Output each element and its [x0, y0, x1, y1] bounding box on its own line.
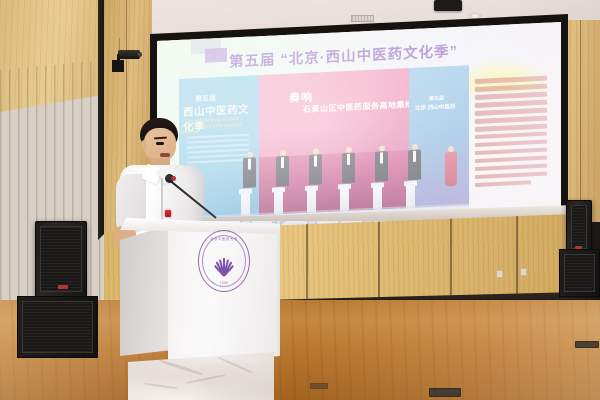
wall-outlet-plate: [520, 268, 527, 276]
left-loudspeaker: [35, 221, 87, 297]
microphone-stem: [167, 178, 216, 219]
podium-side-panel: [120, 224, 172, 356]
person-mouth: [160, 153, 170, 157]
marble-vein: [144, 383, 178, 390]
floor-outlet-box: [575, 341, 599, 348]
conference-hall-scene: 第五届 “北京·西山中医药文化季” 第五届 西山中医药文化季 The 5th B…: [0, 0, 600, 400]
photo-figure: [342, 147, 355, 194]
university-emblem: 北京中医药大学 1956: [198, 230, 250, 292]
ceiling-light: [469, 14, 481, 18]
panel-seam: [450, 218, 452, 306]
camera-cable: [119, 38, 120, 50]
marble-vein: [159, 359, 204, 376]
photo-figure: [276, 150, 289, 197]
photo-figure: [243, 151, 256, 198]
microphone-indicator-light: [171, 176, 176, 181]
person-ear: [141, 140, 147, 149]
photo-center-line2: 石景山区中医药服务高地集结号: [303, 99, 422, 116]
podium: 北京中医药大学 1956: [120, 218, 280, 364]
emblem-top-text: 北京中医药大学: [198, 236, 250, 241]
floor-outlet-box: [429, 388, 461, 397]
slide-body-paragraph: [475, 76, 547, 207]
right-loudspeaker: [566, 200, 592, 254]
wall-camera: [112, 48, 142, 72]
slide-accent-square: [205, 48, 227, 63]
marble-vein: [186, 374, 226, 384]
speaker-brand-logo: [58, 285, 68, 289]
ceiling-vent: [351, 15, 374, 22]
floor-outlet-box: [310, 383, 328, 389]
ceiling-speaker: [434, 0, 462, 11]
photo-figure-host: [445, 146, 457, 189]
photo-figure: [375, 145, 388, 192]
speaker-grille: [40, 226, 82, 292]
emblem-tree-icon: [212, 246, 236, 276]
left-subwoofer: [17, 296, 98, 358]
speaker-grille: [564, 254, 595, 292]
photo-right-line2: 北京·西山中医药: [415, 102, 455, 112]
person-face: [144, 128, 176, 162]
photo-figure: [408, 144, 421, 191]
panel-seam: [516, 216, 518, 304]
speaker-grille: [571, 205, 587, 249]
panel-seam: [378, 220, 380, 308]
speaker-grille: [22, 301, 93, 353]
right-subwoofer: [559, 249, 600, 297]
emblem-bottom-text: 1956: [198, 281, 250, 285]
wall-outlet-plate: [496, 270, 503, 278]
person-eye: [156, 142, 164, 145]
panel-seam: [306, 222, 308, 310]
marble-vein: [217, 356, 253, 373]
photo-figure: [309, 148, 322, 195]
photo-right-line1: 第五届: [429, 94, 444, 102]
camera-lens-icon: [137, 52, 142, 57]
